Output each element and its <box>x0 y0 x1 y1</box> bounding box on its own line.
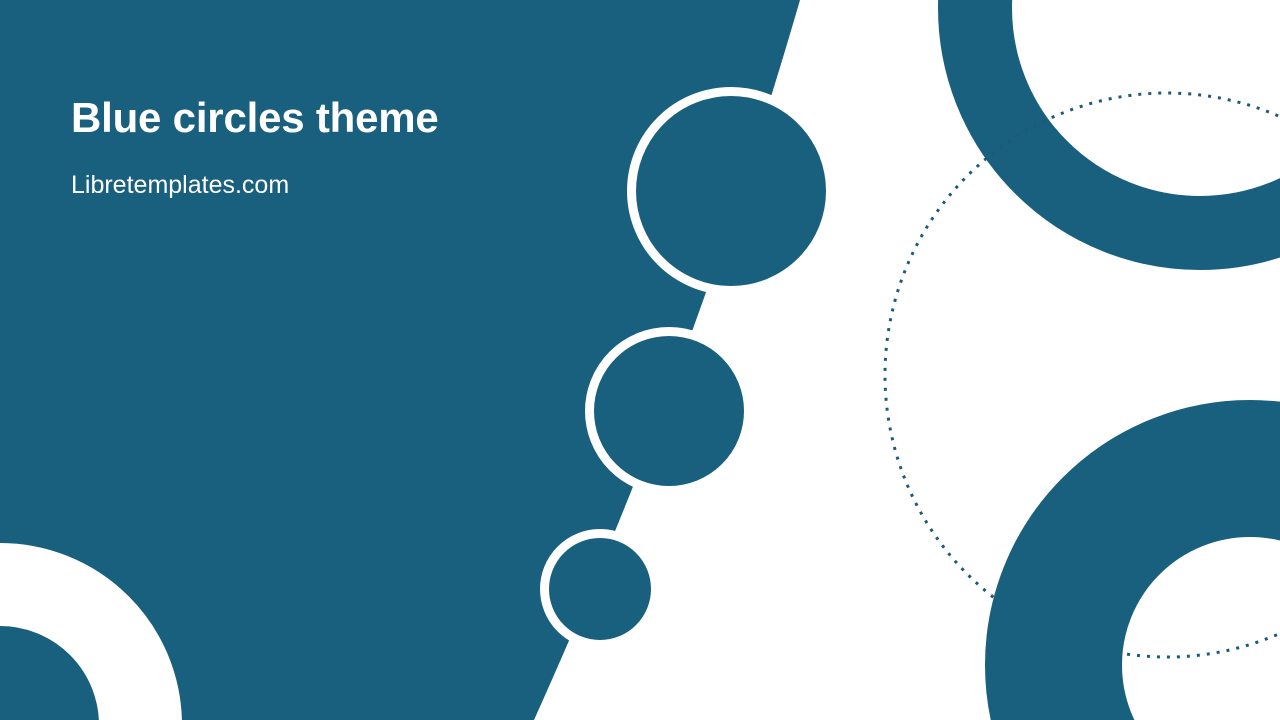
slide-canvas: Blue circles theme Libretemplates.com <box>0 0 1280 720</box>
page-title[interactable]: Blue circles theme <box>71 95 439 141</box>
slide-text-layer: Blue circles theme Libretemplates.com <box>0 0 1280 720</box>
page-subtitle[interactable]: Libretemplates.com <box>71 171 289 200</box>
